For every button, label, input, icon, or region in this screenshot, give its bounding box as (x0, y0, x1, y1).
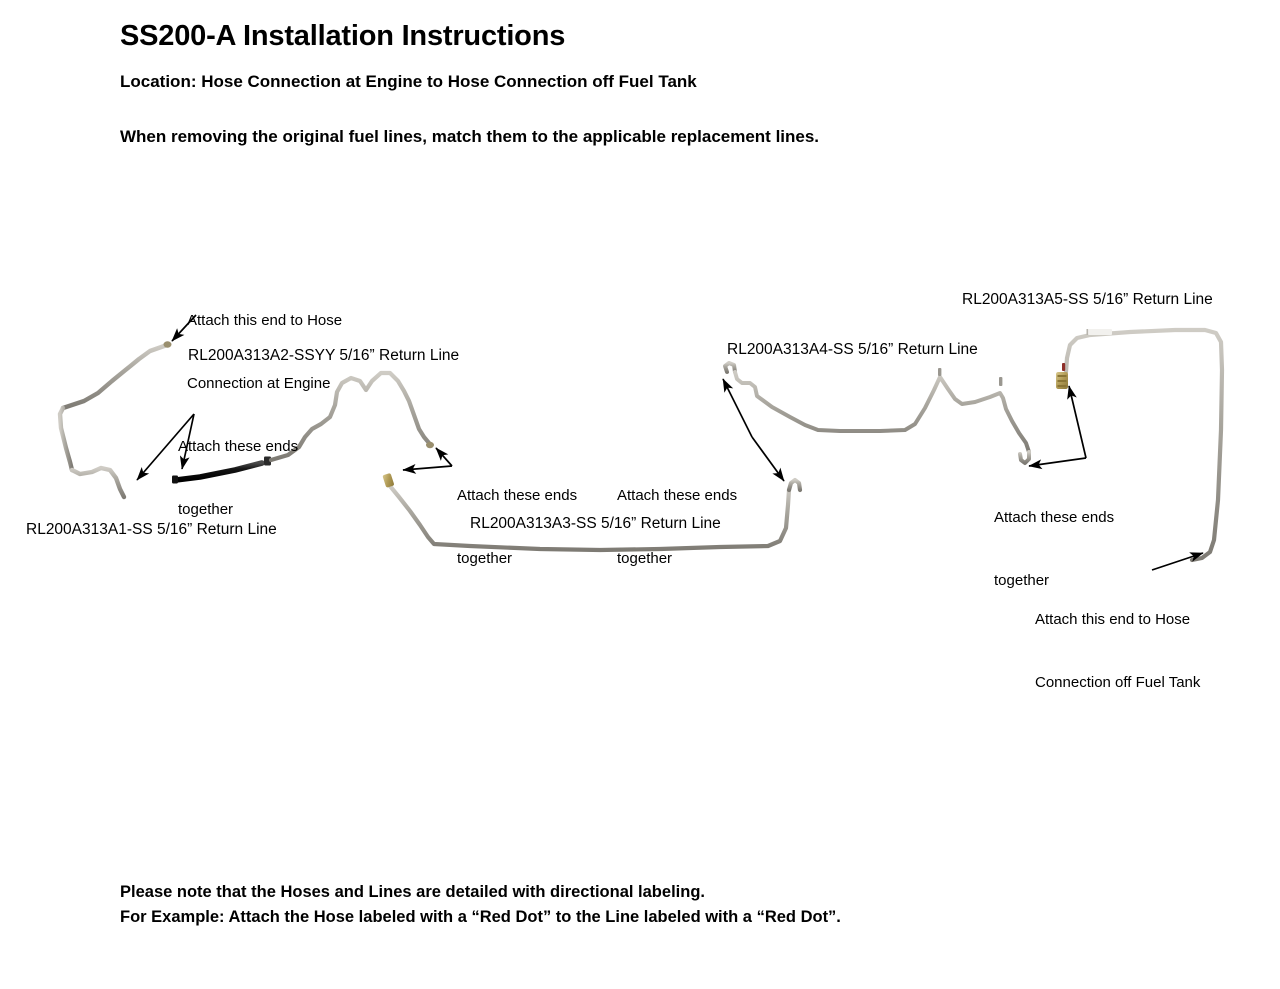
fuel-line-a1 (60, 341, 172, 497)
annotation-a1-a2-join-line1: Attach these ends (178, 436, 298, 457)
fuel-line-a3 (382, 473, 800, 550)
arrow-a3-brass-join (403, 466, 452, 470)
page-title: SS200-A Installation Instructions (120, 20, 565, 53)
location-line: Location: Hose Connection at Engine to H… (120, 72, 697, 92)
footer-note: Please note that the Hoses and Lines are… (120, 880, 841, 930)
annotation-tank-end-line1: Attach this end to Hose (1035, 609, 1200, 630)
annotation-a1-a2-join-line2: together (178, 499, 298, 520)
lead-paragraph: When removing the original fuel lines, m… (120, 127, 819, 147)
annotation-a3-a4-join-line1: Attach these ends (617, 485, 737, 506)
arrow-a4-left-join (723, 379, 752, 437)
part-label-a1: RL200A313A1-SS 5/16” Return Line (26, 521, 277, 539)
arrow-a2-end-join (436, 448, 452, 466)
annotation-engine-end-line1: Attach this end to Hose (187, 310, 342, 331)
annotation-a3-a4-join-line2: together (617, 548, 737, 569)
annotation-tank-end-line2: Connection off Fuel Tank (1035, 672, 1200, 693)
fuel-line-a4 (725, 363, 1029, 463)
annotation-a2-a3-join-line2: together (457, 548, 577, 569)
part-label-a4: RL200A313A4-SS 5/16” Return Line (727, 341, 978, 359)
annotation-a2-a3-join-line1: Attach these ends (457, 485, 577, 506)
footer-line-1: Please note that the Hoses and Lines are… (120, 880, 841, 905)
a5-brass-fitting (1056, 372, 1068, 389)
annotation-engine-end-line2: Connection at Engine (187, 373, 342, 394)
instruction-sheet: SS200-A Installation Instructions Locati… (0, 0, 1280, 989)
annotation-tank-end: Attach this end to Hose Connection off F… (1035, 567, 1200, 735)
arrow-a3-right-join (752, 437, 784, 481)
a5-red-dot-marker (1062, 363, 1065, 371)
arrow-a5-brass-join (1069, 386, 1086, 458)
a4-left-hook (725, 363, 735, 372)
footer-line-2: For Example: Attach the Hose labeled wit… (120, 905, 841, 930)
part-label-a2: RL200A313A2-SSYY 5/16” Return Line (188, 347, 459, 365)
a3-brass-fitting (382, 473, 394, 488)
a5-printed-label (1088, 329, 1112, 335)
annotation-a4-a5-join-line1: Attach these ends (994, 507, 1114, 528)
a4-right-hook (1020, 452, 1029, 463)
a2-end-fitting (426, 442, 434, 448)
part-label-a5: RL200A313A5-SS 5/16” Return Line (962, 291, 1213, 309)
a1-engine-fitting (164, 341, 172, 347)
part-label-a3: RL200A313A3-SS 5/16” Return Line (470, 515, 721, 533)
a3-end-hook (789, 480, 800, 490)
